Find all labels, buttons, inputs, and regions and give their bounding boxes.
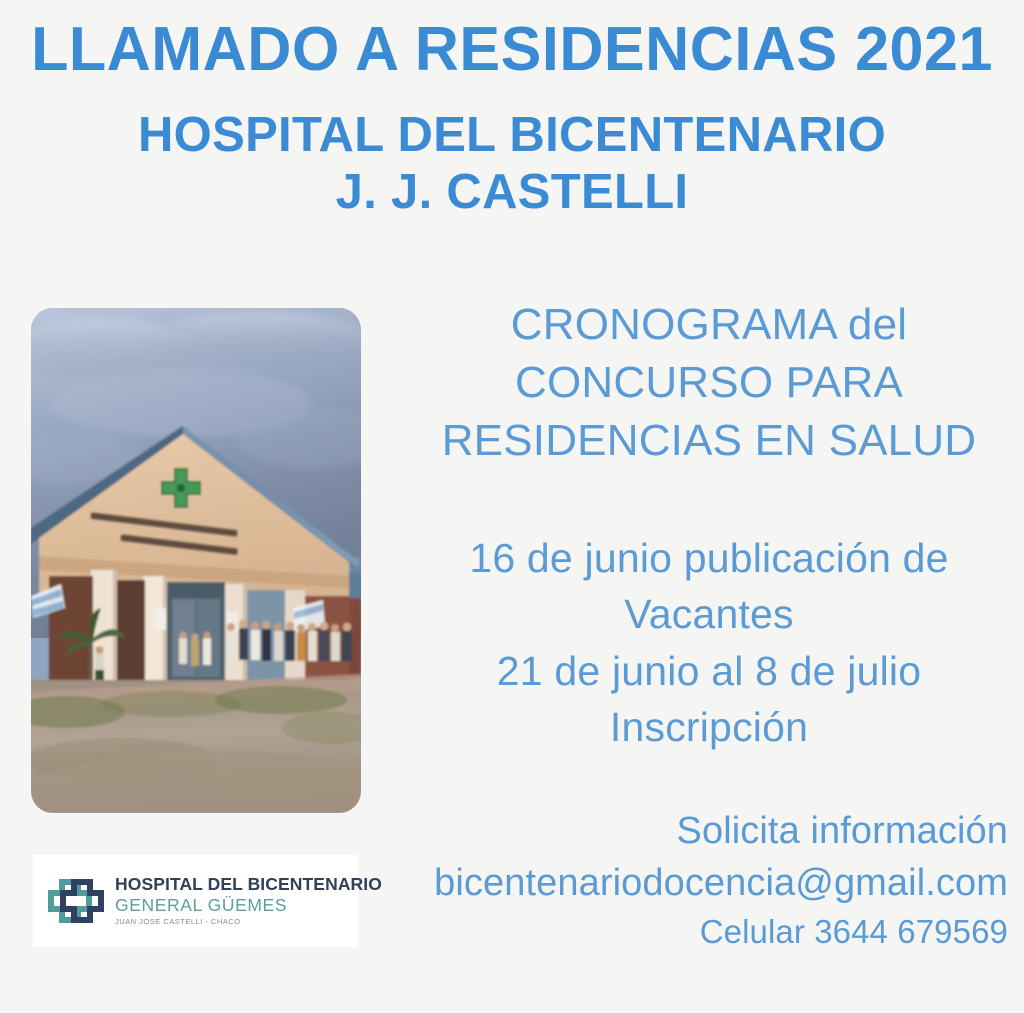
cronograma-line-3: RESIDENCIAS EN SALUD [404, 412, 1014, 470]
poster-header: LLAMADO A RESIDENCIAS 2021 HOSPITAL DEL … [0, 0, 1024, 221]
poster-subtitle: HOSPITAL DEL BICENTENARIO J. J. CASTELLI [0, 81, 1024, 221]
logo-line-3: JUAN JOSE CASTELLI - CHACO [115, 918, 382, 926]
page-title: LLAMADO A RESIDENCIAS 2021 [8, 0, 1017, 81]
contacto-block: Solicita información bicentenariodocenci… [404, 805, 1014, 954]
cronograma-line-2: CONCURSO PARA [404, 354, 1014, 412]
hospital-logo: HOSPITAL DEL BICENTENARIO GENERAL GÜEMES… [33, 855, 358, 947]
cronograma-line-1: CRONOGRAMA del [404, 296, 1014, 354]
logo-line-2: GENERAL GÜEMES [115, 897, 382, 915]
logo-text-block: HOSPITAL DEL BICENTENARIO GENERAL GÜEMES… [115, 876, 382, 926]
poster-body-copy: CRONOGRAMA del CONCURSO PARA RESIDENCIAS… [404, 296, 1014, 954]
cronograma-block: CRONOGRAMA del CONCURSO PARA RESIDENCIAS… [404, 296, 1014, 470]
contacto-solicita: Solicita información [404, 805, 1008, 857]
fecha-line-3: 21 de junio al 8 de julio [404, 643, 1014, 699]
subtitle-line-1: HOSPITAL DEL BICENTENARIO [138, 108, 886, 162]
fecha-line-4: Inscripción [404, 699, 1014, 755]
fecha-line-2: Vacantes [404, 586, 1014, 642]
hospital-photo-image [31, 308, 361, 813]
logo-line-1: HOSPITAL DEL BICENTENARIO [115, 876, 382, 894]
fechas-block: 16 de junio publicación de Vacantes 21 d… [404, 530, 1014, 755]
contacto-celular: Celular 3644 679569 [404, 909, 1008, 954]
double-cross-logo-icon [47, 872, 105, 930]
hospital-photo [31, 308, 361, 813]
fecha-line-1: 16 de junio publicación de [404, 530, 1014, 586]
subtitle-line-2: J. J. CASTELLI [0, 164, 1024, 221]
contacto-email[interactable]: bicentenariodocencia@gmail.com [404, 857, 1008, 909]
